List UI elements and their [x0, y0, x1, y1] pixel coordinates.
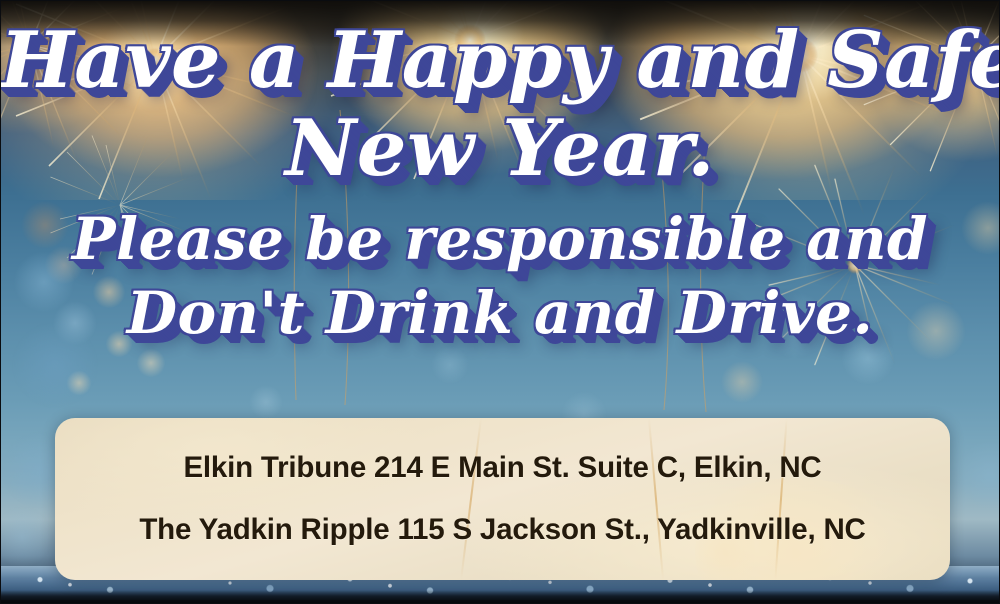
new-year-safety-poster: Have a Happy and Safe New Year. Please b… — [0, 0, 1000, 604]
headline-line-4: Don't Drink and Drive. — [0, 284, 1000, 342]
headline-line-1: Have a Happy and Safe — [0, 22, 1000, 100]
bottom-vignette — [0, 590, 1000, 604]
headline-line-3: Please be responsible and — [0, 210, 1000, 268]
contact-line-yadkin-ripple: The Yadkin Ripple 115 S Jackson St., Yad… — [139, 513, 865, 547]
headline-block: Have a Happy and Safe New Year. Please b… — [0, 18, 1000, 342]
contact-lines: Elkin Tribune 214 E Main St. Suite C, El… — [55, 418, 950, 580]
contact-line-elkin-tribune: Elkin Tribune 214 E Main St. Suite C, El… — [183, 451, 821, 485]
contact-info-box: Elkin Tribune 214 E Main St. Suite C, El… — [55, 418, 950, 580]
headline-line-2: New Year. — [0, 110, 1000, 188]
